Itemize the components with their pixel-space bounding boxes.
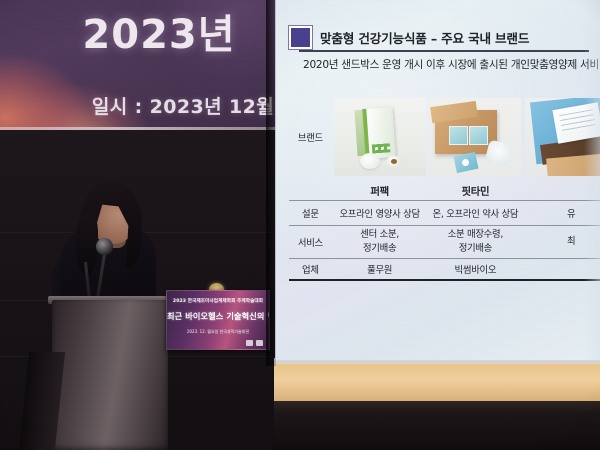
- photo-shape: [449, 126, 468, 145]
- stage-backdrop-banner: 2023년 일시 : 2023년 12월: [0, 0, 282, 130]
- screen-left-shadow: [266, 0, 276, 366]
- sponsor-logo-icon: [246, 340, 253, 346]
- column-header-3: [523, 180, 600, 201]
- service-line: 센터 소분,: [332, 228, 428, 242]
- slide-title: 맞춤형 건강기능식품 – 주요 국내 브랜드: [320, 28, 529, 47]
- square-bullet-icon: [289, 26, 312, 49]
- company-cell-2: 빅썸바이오: [428, 259, 524, 281]
- survey-cell-2: 온, 오프라인 약사 상담: [428, 201, 524, 226]
- photo-shape: [553, 102, 600, 143]
- service-cell-1: 센터 소분, 정기배송: [332, 226, 428, 259]
- service-cell-2: 소분 매장수령, 정기배송: [428, 226, 524, 259]
- podium-sign-line1: 2023 한국제조마사업계제학회 추계학술대회: [167, 298, 269, 304]
- podium-sign-line3: 2023. 12. 월요일 한국과학기술회관: [167, 329, 269, 335]
- company-cell-3: [523, 259, 600, 281]
- table-row-brand: 브랜드: [289, 94, 600, 180]
- service-line: 정기배송: [428, 242, 524, 256]
- table-row-service: 서비스 센터 소분, 정기배송 소분 매장수령, 정기배송 최: [289, 226, 600, 259]
- photo-shape: [454, 152, 479, 173]
- header-spacer: [289, 180, 332, 201]
- photo-shape: [469, 126, 488, 145]
- table-row-survey: 설문 오프라인 영양사 상담 온, 오프라인 약사 상담 유: [289, 201, 600, 226]
- survey-cell-3: 유: [523, 201, 600, 226]
- row-label-company: 업체: [289, 259, 332, 281]
- slide-heading: 맞춤형 건강기능식품 – 주요 국내 브랜드: [289, 26, 529, 49]
- brand-photo-cell: [428, 94, 524, 180]
- backdrop-subtitle: 일시 : 2023년 12월: [42, 92, 282, 119]
- brand-photo-cell: [523, 94, 600, 180]
- photo-shape: [485, 139, 514, 166]
- projected-slide: 맞춤형 건강기능식품 – 주요 국내 브랜드 2020년 샌드박스 운영 개시 …: [275, 0, 600, 360]
- photo-shape: [362, 107, 395, 159]
- company-cell-1: 풀무원: [332, 259, 428, 281]
- product-photo-blue-kit: [525, 98, 600, 176]
- product-photo-kraft-box: [429, 98, 521, 176]
- podium: [52, 300, 168, 450]
- table-row-headers: 퍼팩 핏타민: [289, 180, 600, 201]
- brand-comparison-table: 브랜드: [289, 94, 600, 281]
- podium-sign-sponsor-logos: [246, 340, 263, 346]
- column-header-1: 퍼팩: [332, 180, 428, 201]
- conference-photo: 2023년 일시 : 2023년 12월 2023 한국제조마사업계제학회 추계…: [0, 0, 600, 450]
- product-photo-green-box: [334, 98, 426, 176]
- row-label-service: 서비스: [289, 226, 332, 259]
- podium-banner-sign: 2023 한국제조마사업계제학회 추계학술대회 최근 바이오헬스 기술혁신의 변…: [166, 290, 270, 350]
- sponsor-logo-icon: [256, 340, 263, 346]
- title-underline: [299, 50, 589, 52]
- microphone-icon: [96, 238, 113, 255]
- slide-subtitle: 2020년 샌드박스 운영 개시 이후 시장에 출시된 개인맞춤영양제 서비: [303, 57, 599, 72]
- service-line: 정기배송: [332, 242, 428, 256]
- stage-floor: [274, 412, 600, 450]
- column-header-2: 핏타민: [428, 180, 524, 201]
- table-row-company: 업체 풀무원 빅썸바이오: [289, 259, 600, 281]
- service-line: 소분 매장수령,: [428, 228, 524, 242]
- survey-cell-1: 오프라인 영양사 상담: [332, 201, 428, 226]
- row-label-survey: 설문: [289, 201, 332, 226]
- backdrop-title: 2023년: [18, 2, 282, 60]
- row-label-brand: 브랜드: [289, 94, 332, 180]
- wall-band: [274, 363, 600, 401]
- brand-photo-cell: [332, 94, 428, 180]
- photo-shape: [386, 156, 402, 167]
- photo-shape: [360, 153, 380, 169]
- service-line: 최: [523, 235, 600, 249]
- service-cell-3: 최: [523, 226, 600, 259]
- podium-sign-line2: 최근 바이오헬스 기술혁신의 변화와 규제과학의: [167, 310, 269, 322]
